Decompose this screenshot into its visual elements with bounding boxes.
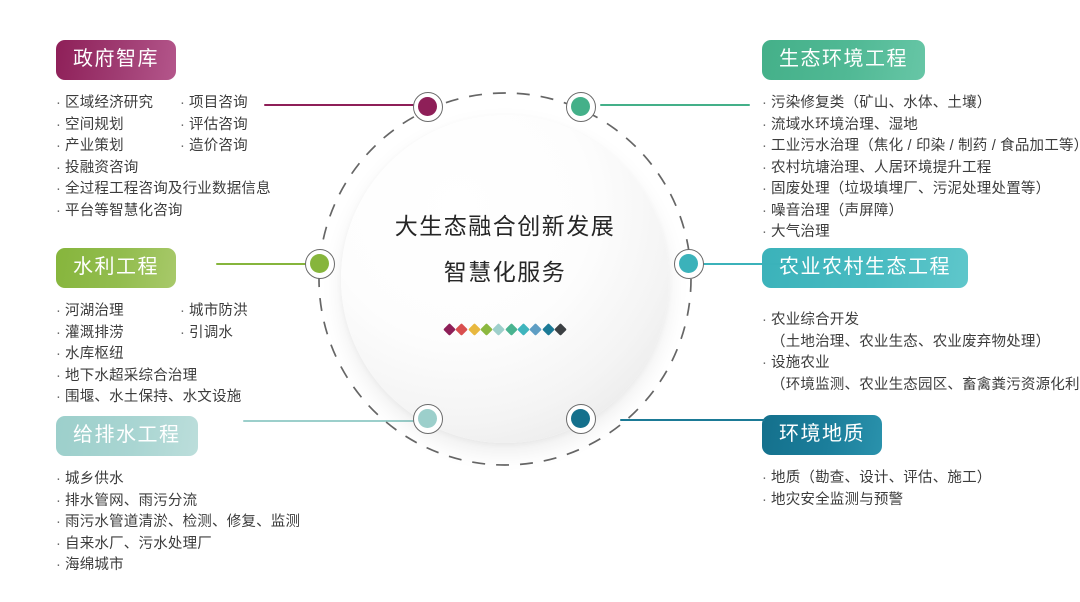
list-item: ·投融资咨询	[56, 158, 271, 180]
node-core	[310, 254, 329, 273]
infographic-canvas: 政府智库 ·区域经济研究 ·空间规划 ·产业策划 ·项目咨询 ·评估咨询 ·造价…	[0, 0, 1080, 602]
section-items-water-conservancy-engineering: ·河湖治理 ·灌溉排涝 ·城市防洪 ·引调水 ·水库枢纽 ·地下水超采综合治理 …	[56, 301, 248, 409]
center-title-line-2: 智慧化服务	[303, 249, 707, 295]
bullet-icon: ·	[56, 512, 65, 534]
list-item: ·排水管网、雨污分流	[56, 491, 300, 513]
bullet-icon: ·	[56, 366, 65, 388]
node-core	[679, 254, 698, 273]
item-column-right: ·项目咨询 ·评估咨询 ·造价咨询	[180, 93, 248, 158]
bullet-icon: ·	[56, 179, 65, 201]
section-title-water-conservancy-engineering: 水利工程	[56, 248, 176, 288]
list-item: ·自来水厂、污水处理厂	[56, 534, 300, 556]
center-title-line-1: 大生态融合创新发展	[303, 203, 707, 249]
section-items-environmental-geology: ·地质（勘查、设计、评估、施工） ·地灾安全监测与预警	[762, 468, 992, 511]
list-item: ·海绵城市	[56, 555, 300, 577]
bullet-icon: ·	[56, 158, 65, 180]
list-item: ·农业综合开发	[762, 310, 1080, 332]
list-item: ·城乡供水	[56, 469, 300, 491]
list-item: ·农村坑塘治理、人居环境提升工程	[762, 158, 1080, 180]
bullet-icon: ·	[762, 353, 771, 375]
section-ecological-environment-engineering: 生态环境工程 ·污染修复类（矿山、水体、土壤） ·流域水环境治理、湿地 ·工业污…	[762, 40, 1080, 244]
list-item: ·噪音治理（声屏障）	[762, 201, 1080, 223]
list-item: ·水库枢纽	[56, 344, 248, 366]
bullet-icon: ·	[762, 468, 771, 490]
center-title: 大生态融合创新发展 智慧化服务	[303, 203, 707, 295]
bullet-icon: ·	[56, 301, 65, 323]
node-core	[418, 97, 437, 116]
bullet-icon: ·	[56, 555, 65, 577]
section-title-ecological-environment-engineering: 生态环境工程	[762, 40, 925, 80]
bullet-icon: ·	[762, 490, 771, 512]
bullet-icon: ·	[56, 323, 65, 345]
list-item: ·空间规划	[56, 115, 180, 137]
bullet-icon: ·	[56, 115, 65, 137]
list-item: ·引调水	[180, 323, 248, 345]
section-items-ecological-environment-engineering: ·污染修复类（矿山、水体、土壤） ·流域水环境治理、湿地 ·工业污水治理（焦化 …	[762, 93, 1080, 244]
section-water-supply-drainage-engineering: 给排水工程 ·城乡供水 ·排水管网、雨污分流 ·雨污水管道清淤、检测、修复、监测…	[56, 416, 300, 577]
node-water-supply-drainage[interactable]	[413, 404, 443, 434]
list-item: ·地质（勘查、设计、评估、施工）	[762, 468, 992, 490]
section-title-environmental-geology: 环境地质	[762, 415, 882, 455]
bullet-icon: ·	[56, 469, 65, 491]
bullet-icon: ·	[762, 201, 771, 223]
section-environmental-geology: 环境地质 ·地质（勘查、设计、评估、施工） ·地灾安全监测与预警	[762, 415, 992, 511]
bullet-icon: ·	[56, 201, 65, 223]
section-items-agriculture-rural-ecological-engineering: ·农业综合开发 （土地治理、农业生态、农业废弃物处理） ·设施农业 （环境监测、…	[762, 310, 1080, 396]
bullet-icon: ·	[180, 93, 189, 115]
bullet-icon: ·	[762, 136, 771, 158]
list-item: ·污染修复类（矿山、水体、土壤）	[762, 93, 1080, 115]
list-item: ·河湖治理	[56, 301, 180, 323]
section-government-think-tank: 政府智库 ·区域经济研究 ·空间规划 ·产业策划 ·项目咨询 ·评估咨询 ·造价…	[56, 40, 271, 222]
diamond-marker	[542, 323, 555, 336]
bullet-icon: ·	[56, 491, 65, 513]
bullet-icon: ·	[180, 301, 189, 323]
list-item: ·围堰、水土保持、水文设施	[56, 387, 248, 409]
diamond-decoration-row	[303, 325, 707, 334]
list-item: ·设施农业	[762, 353, 1080, 375]
list-item: ·地灾安全监测与预警	[762, 490, 992, 512]
diamond-marker	[554, 323, 567, 336]
bullet-icon: ·	[762, 158, 771, 180]
section-title-water-supply-drainage-engineering: 给排水工程	[56, 416, 198, 456]
section-agriculture-rural-ecological-engineering: 农业农村生态工程 ·农业综合开发 （土地治理、农业生态、农业废弃物处理） ·设施…	[762, 248, 1080, 396]
node-agriculture-rural[interactable]	[674, 249, 704, 279]
list-item: ·固废处理（垃圾填埋厂、污泥处理处置等）	[762, 179, 1080, 201]
section-title-government-think-tank: 政府智库	[56, 40, 176, 80]
list-item: ·产业策划	[56, 136, 180, 158]
list-item: ·大气治理	[762, 222, 1080, 244]
diamond-marker	[443, 323, 456, 336]
bullet-icon: ·	[56, 534, 65, 556]
node-environmental-geology[interactable]	[566, 404, 596, 434]
list-item: ·地下水超采综合治理	[56, 366, 248, 388]
list-item: ·评估咨询	[180, 115, 248, 137]
list-item-sub: （土地治理、农业生态、农业废弃物处理）	[762, 332, 1080, 354]
bullet-icon: ·	[56, 93, 65, 115]
section-title-agriculture-rural-ecological-engineering: 农业农村生态工程	[762, 248, 968, 288]
section-items-water-supply-drainage-engineering: ·城乡供水 ·排水管网、雨污分流 ·雨污水管道清淤、检测、修复、监测 ·自来水厂…	[56, 469, 300, 577]
list-item: ·区域经济研究	[56, 93, 180, 115]
list-item: ·工业污水治理（焦化 / 印染 / 制药 / 食品加工等）	[762, 136, 1080, 158]
section-items-government-think-tank: ·区域经济研究 ·空间规划 ·产业策划 ·项目咨询 ·评估咨询 ·造价咨询 ·投…	[56, 93, 271, 222]
bullet-icon: ·	[56, 136, 65, 158]
item-column-left: ·区域经济研究 ·空间规划 ·产业策划	[56, 93, 180, 158]
bullet-icon: ·	[762, 222, 771, 244]
bullet-icon: ·	[180, 115, 189, 137]
bullet-icon: ·	[762, 115, 771, 137]
diamond-marker	[492, 323, 505, 336]
list-item: ·造价咨询	[180, 136, 248, 158]
list-item: ·雨污水管道清淤、检测、修复、监测	[56, 512, 300, 534]
diamond-marker	[517, 323, 530, 336]
bullet-icon: ·	[762, 179, 771, 201]
list-item: ·流域水环境治理、湿地	[762, 115, 1080, 137]
node-water-conservancy[interactable]	[305, 249, 335, 279]
bullet-icon: ·	[180, 323, 189, 345]
bullet-icon: ·	[56, 387, 65, 409]
list-item: ·平台等智慧化咨询	[56, 201, 271, 223]
bullet-icon: ·	[180, 136, 189, 158]
bullet-icon: ·	[762, 93, 771, 115]
node-core	[571, 409, 590, 428]
list-item: ·全过程工程咨询及行业数据信息	[56, 179, 271, 201]
node-core	[418, 409, 437, 428]
node-government-think-tank[interactable]	[413, 92, 443, 122]
list-item: ·项目咨询	[180, 93, 248, 115]
center-hub: 大生态融合创新发展 智慧化服务	[303, 77, 707, 481]
bullet-icon: ·	[762, 310, 771, 332]
item-columns: ·区域经济研究 ·空间规划 ·产业策划 ·项目咨询 ·评估咨询 ·造价咨询	[56, 93, 271, 158]
node-ecological-environment[interactable]	[566, 92, 596, 122]
section-water-conservancy-engineering: 水利工程 ·河湖治理 ·灌溉排涝 ·城市防洪 ·引调水 ·水库枢纽 ·地下水超采…	[56, 248, 248, 409]
diamond-marker	[480, 323, 493, 336]
node-core	[571, 97, 590, 116]
diamond-marker	[530, 323, 543, 336]
list-item: ·灌溉排涝	[56, 323, 180, 345]
diamond-marker	[455, 323, 468, 336]
item-column-right: ·城市防洪 ·引调水	[180, 301, 248, 344]
diamond-marker	[505, 323, 518, 336]
item-columns: ·河湖治理 ·灌溉排涝 ·城市防洪 ·引调水	[56, 301, 248, 344]
bullet-icon: ·	[56, 344, 65, 366]
list-item-sub: （环境监测、农业生态园区、畜禽粪污资源化利用）	[762, 375, 1080, 397]
diamond-marker	[468, 323, 481, 336]
list-item: ·城市防洪	[180, 301, 248, 323]
item-column-left: ·河湖治理 ·灌溉排涝	[56, 301, 180, 344]
